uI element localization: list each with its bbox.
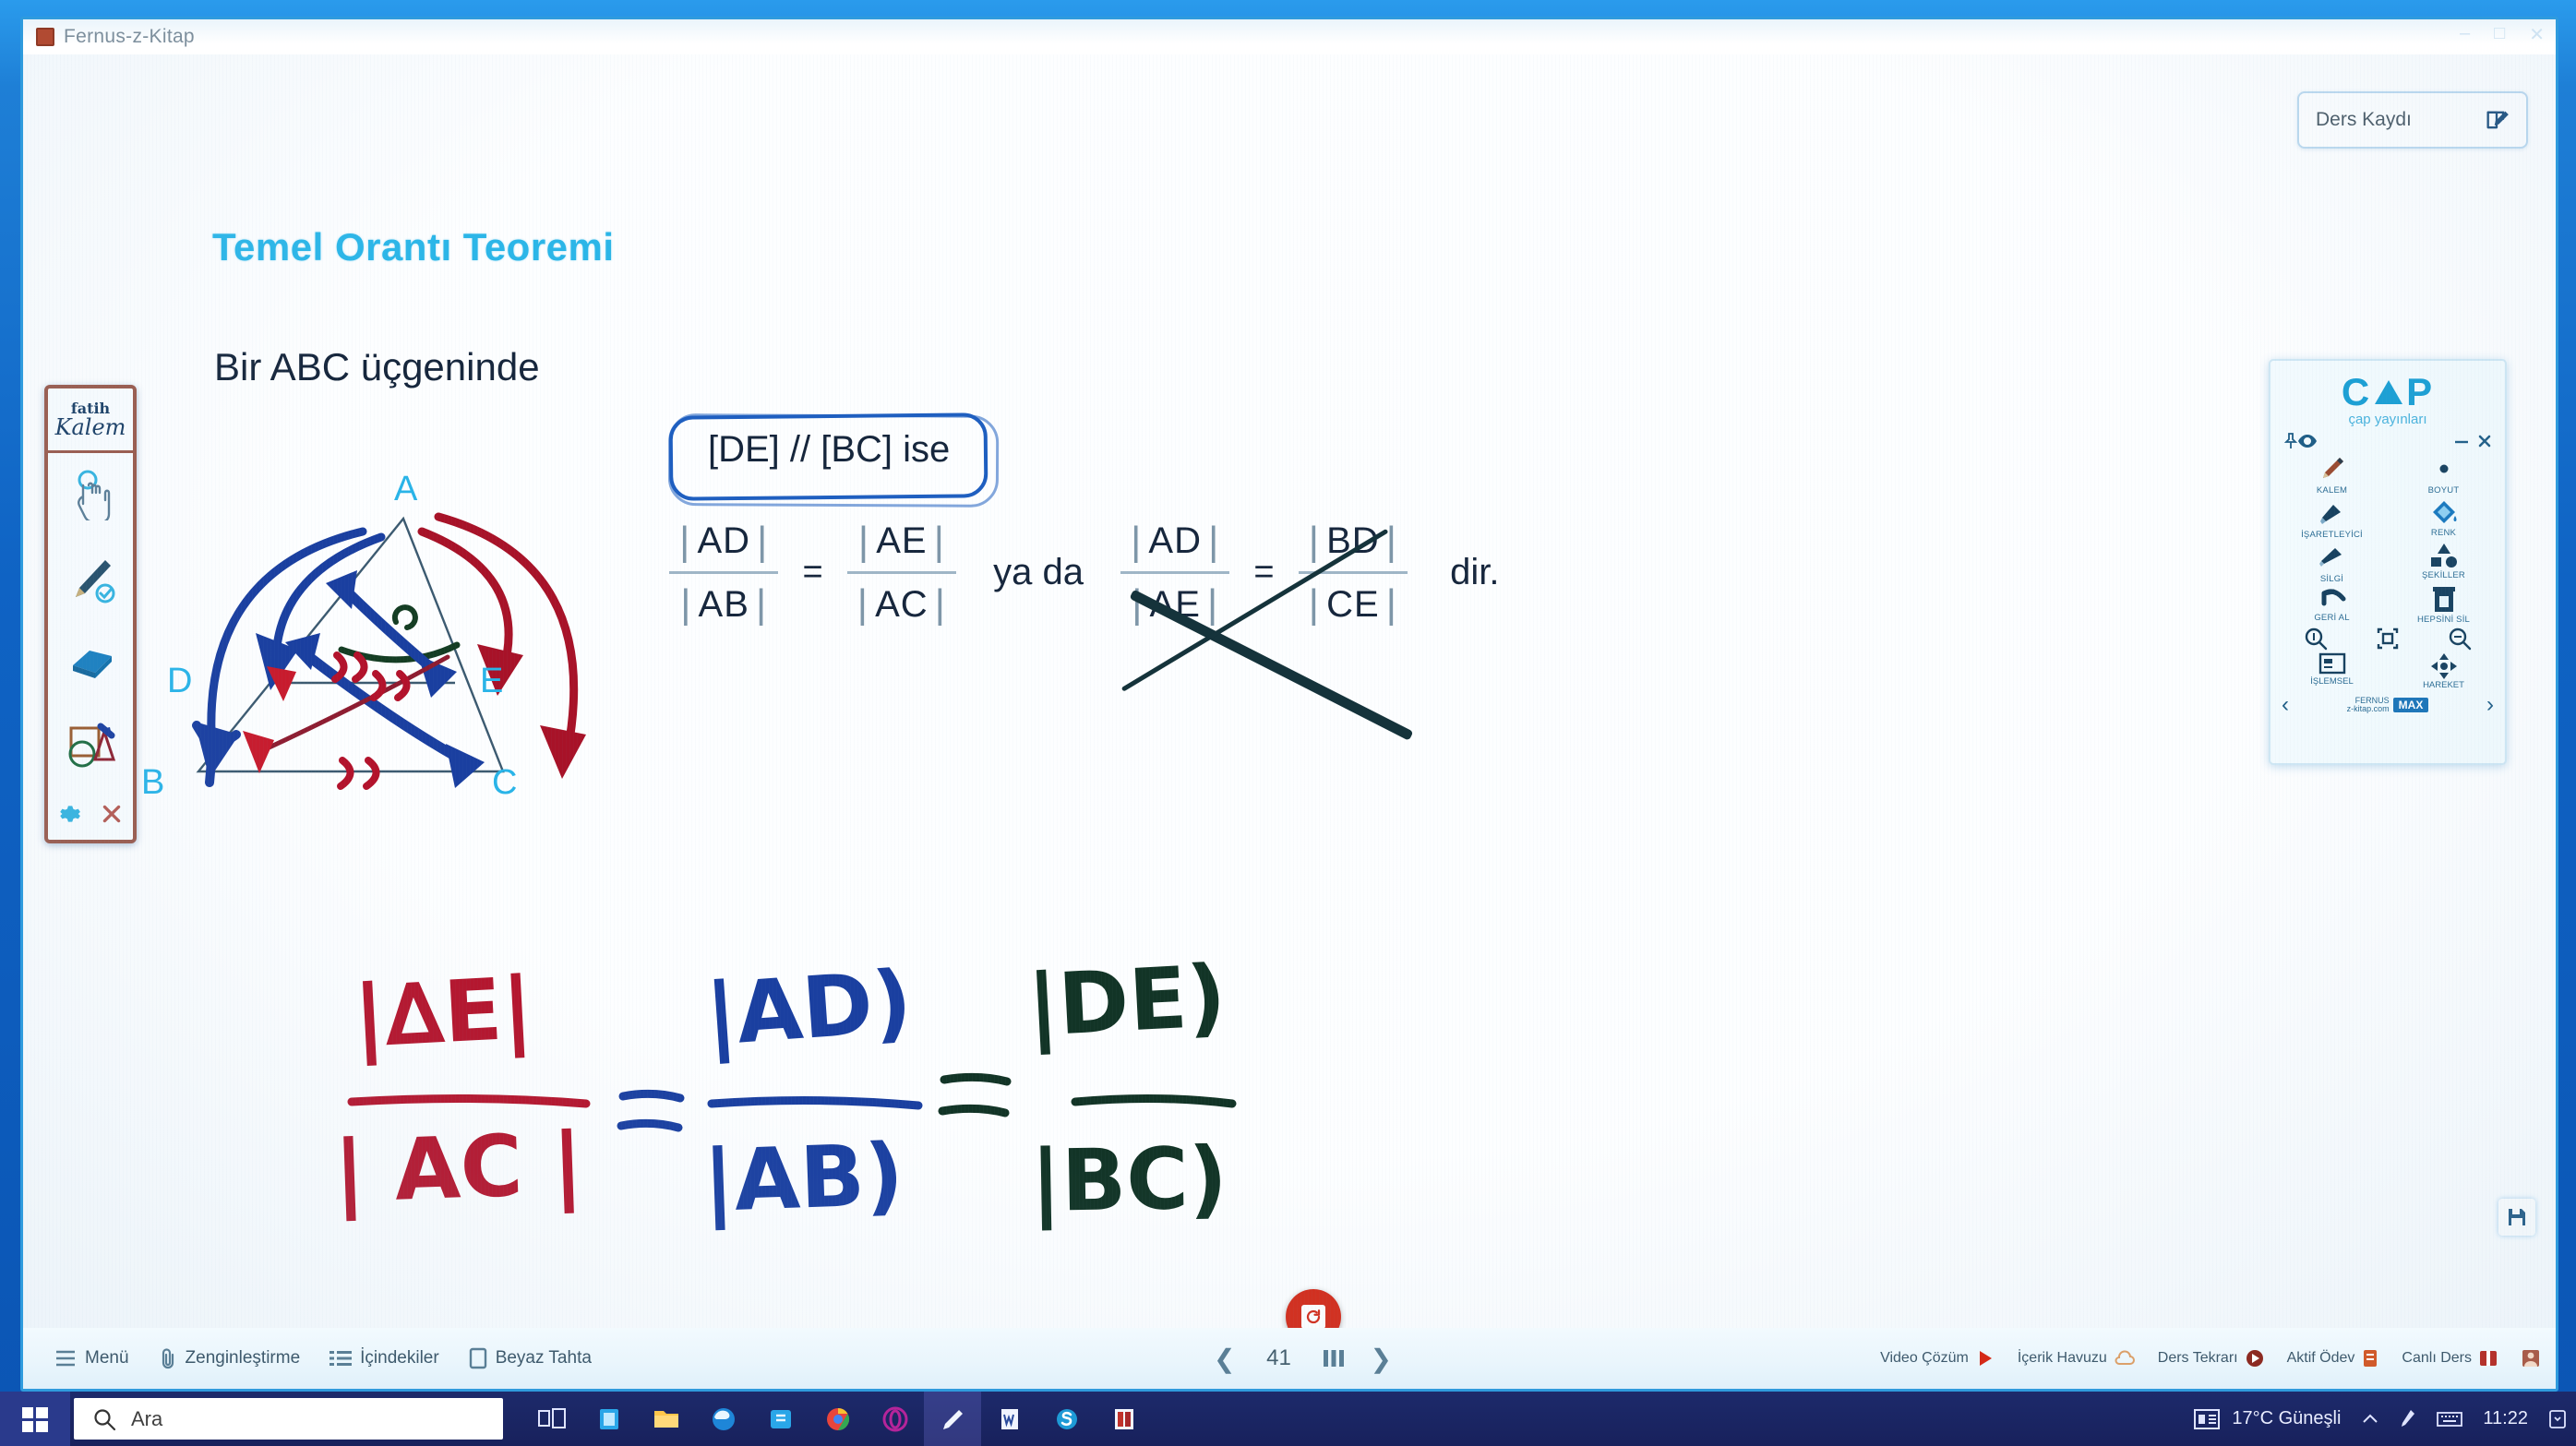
cap-logo-subtitle: çap yayınları	[2270, 412, 2505, 427]
weather-widget[interactable]: 17°C Güneşli	[2193, 1407, 2341, 1431]
close-icon[interactable]	[2477, 434, 2492, 448]
fraction-bar	[1120, 571, 1229, 574]
pencil-icon	[2317, 453, 2348, 484]
appbar-item-menu[interactable]: Menü	[40, 1348, 144, 1368]
abs-bar: |	[750, 519, 774, 564]
minimize-icon[interactable]	[2453, 436, 2470, 446]
windows-taskbar: Ara	[0, 1392, 2576, 1446]
chrome-icon[interactable]	[809, 1392, 867, 1446]
cap-tool-grid[interactable]: KALEM BOYUT	[2270, 451, 2505, 625]
frac-denominator: AC	[875, 584, 929, 626]
list-icon	[329, 1349, 352, 1368]
cap-tool-hepsini-sil[interactable]: HEPSİNİ SİL	[2388, 586, 2499, 625]
handwritten-formula: .hw { font-family: "DejaVu Sans", sans-s…	[346, 945, 1343, 1337]
cap-tool-label: İŞARETLEYİCİ	[2301, 530, 2363, 540]
current-page-number[interactable]: 41	[1259, 1345, 1298, 1371]
shapes-icon	[64, 723, 117, 771]
equation-row: |AD| |AB| = |AE| |AC| ya da	[669, 517, 1499, 629]
condition-text: [DE] // [BC] ise	[708, 429, 950, 471]
formula-block: [DE] // [BC] ise |AD| |AB| = |AE| |AC|	[669, 414, 1499, 629]
trash-icon	[2432, 586, 2456, 614]
homework-icon[interactable]	[2361, 1348, 2379, 1368]
cap-tool-sekiller[interactable]: ŞEKİLLER	[2388, 542, 2499, 584]
svg-text:| AC |: | AC |	[332, 1115, 585, 1222]
appbar-item-label: Zenginleştirme	[186, 1348, 301, 1368]
cap-tool-label: SİLGİ	[2320, 574, 2343, 584]
abs-bar: |	[1302, 581, 1326, 627]
keyboard-icon[interactable]	[2437, 1410, 2462, 1428]
svg-text:|AD): |AD)	[702, 952, 915, 1065]
maximize-icon[interactable]: □	[2494, 23, 2505, 46]
store-icon[interactable]	[581, 1392, 638, 1446]
triangle-vertex-d: D	[167, 662, 192, 701]
prev-page-button[interactable]: ❮	[1214, 1344, 1235, 1374]
appbar-right-group: Video Çözüm İçerik Havuzu Ders Tekrarı	[1869, 1348, 2546, 1368]
fraction-bar	[847, 571, 956, 574]
eraser-icon	[2317, 542, 2348, 573]
windows-start-icon[interactable]	[0, 1392, 70, 1446]
triangle-vertex-b: B	[141, 763, 164, 803]
replay-icon[interactable]	[2245, 1348, 2265, 1368]
abs-bar: |	[928, 519, 952, 564]
ders-kaydi-label: Ders Kaydı	[2316, 109, 2412, 131]
pages-icon[interactable]	[1322, 1346, 1346, 1370]
handwritten-equals-2	[942, 1077, 1007, 1113]
cloud-icon[interactable]	[2114, 1349, 2136, 1368]
cap-tool-renk[interactable]: RENK	[2388, 497, 2499, 540]
cap-window-buttons[interactable]	[2270, 427, 2505, 451]
chevron-right-icon[interactable]: ›	[2486, 692, 2494, 718]
chevron-left-icon[interactable]: ‹	[2282, 692, 2289, 718]
abs-bar: |	[1380, 519, 1404, 564]
search-icon	[92, 1407, 116, 1431]
page-navigator[interactable]: ❮ 41 ❯	[1214, 1344, 1392, 1374]
app-icon	[36, 28, 54, 46]
svg-text:|AB): |AB)	[701, 1125, 905, 1231]
cap-logo-triangle	[2373, 377, 2404, 407]
abs-bar: |	[673, 519, 697, 564]
touch-hand-icon	[67, 469, 114, 520]
handwritten-term-1: |∆E| | AC |	[332, 959, 586, 1222]
cap-tool-kalem[interactable]: KALEM	[2276, 453, 2388, 496]
edge-icon[interactable]	[695, 1392, 752, 1446]
paperclip-icon	[159, 1347, 177, 1369]
search-placeholder-text: Ara	[131, 1407, 162, 1431]
pen-brand-line2: Kalem	[55, 414, 126, 440]
window-titlebar: Fernus-z-Kitap – □ ✕	[23, 19, 2556, 54]
shapes-tool[interactable]	[48, 704, 133, 788]
close-icon[interactable]: ✕	[2529, 23, 2545, 46]
svg-text:|∆E|: |∆E|	[352, 959, 535, 1067]
save-disk-icon	[2506, 1206, 2528, 1228]
reload-icon	[1301, 1305, 1325, 1329]
search-input[interactable]: Ara	[74, 1398, 503, 1440]
appbar-item-label: İçerik Havuzu	[2018, 1350, 2107, 1367]
abs-bar: |	[674, 581, 698, 627]
abs-bar: |	[1380, 581, 1404, 627]
appbar-item-label: Beyaz Tahta	[496, 1348, 592, 1368]
zoom-in-icon[interactable]	[2304, 627, 2328, 651]
appbar-item-icerik-havuzu[interactable]: İçerik Havuzu	[2007, 1349, 2147, 1368]
avatar[interactable]	[2521, 1348, 2541, 1368]
cap-tool-silgi[interactable]: SİLGİ	[2276, 542, 2388, 584]
zoom-out-icon[interactable]	[2448, 627, 2472, 651]
whiteboard-icon	[469, 1347, 487, 1369]
edit-square-icon[interactable]	[2484, 107, 2510, 133]
undo-arrow-icon	[2316, 586, 2349, 612]
cap-brand-text: FERNUS z-kitap.com	[2347, 697, 2390, 714]
appbar-item-label: Aktif Ödev	[2287, 1350, 2355, 1367]
handwritten-term-2: |AD) |AB)	[701, 952, 918, 1231]
appbar-item-label: Canlı Ders	[2402, 1350, 2472, 1367]
cap-zoom-row[interactable]	[2270, 625, 2505, 652]
abs-bar: |	[749, 581, 773, 627]
cap-tool-label: HAREKET	[2423, 680, 2464, 690]
page-subtitle: Bir ABC üçgeninde	[214, 345, 540, 389]
app-window: Fernus-z-Kitap – □ ✕ Ders Kaydı	[20, 17, 2558, 1392]
frac-denominator: CE	[1326, 584, 1380, 626]
ders-kaydi-button[interactable]: Ders Kaydı	[2297, 91, 2528, 149]
handwritten-term-3: |DE) |BC)	[1025, 947, 1232, 1231]
page-title: Temel Orantı Teoremi	[212, 225, 615, 269]
fraction-bar	[669, 571, 778, 574]
app-bottom-bar: Menü Zenginleştirme	[23, 1328, 2556, 1389]
move-icon	[2430, 652, 2458, 680]
pen-app-icon[interactable]	[924, 1392, 981, 1446]
appbar-item-icindekiler[interactable]: İçindekiler	[315, 1348, 454, 1368]
appbar-item-label: Menü	[85, 1348, 129, 1368]
appbar-item-label: Ders Tekrarı	[2158, 1350, 2238, 1367]
appbar-item-profile[interactable]	[2510, 1348, 2546, 1368]
frac-numerator: AD	[697, 520, 750, 562]
triangle-vertex-a: A	[394, 470, 417, 509]
cap-brand-line2: z-kitap.com	[2347, 705, 2390, 713]
touch-hand-tool[interactable]	[48, 453, 133, 537]
cap-tool-label: BOYUT	[2428, 485, 2460, 496]
cap-logo-c: C	[2342, 370, 2371, 414]
abs-bar: |	[1202, 519, 1226, 564]
cap-tool-islemsel[interactable]: İŞLEMSEL	[2276, 652, 2388, 690]
book-page: Ders Kaydı Temel Orantı Teoremi Bir ABC …	[23, 54, 2556, 1328]
eraser-icon	[64, 643, 117, 682]
pin-icon[interactable]	[2283, 433, 2298, 449]
crossed-equation: |AD| |AE| = |BD| |CE|	[1120, 517, 1408, 629]
pen-icon	[65, 553, 116, 604]
appbar-item-video-cozum[interactable]: Video Çözüm	[1869, 1348, 2007, 1368]
cap-tool-label: ŞEKİLLER	[2422, 570, 2465, 580]
fit-screen-icon[interactable]	[2376, 627, 2400, 651]
opera-icon[interactable]	[867, 1392, 924, 1446]
weather-widget-icon	[2193, 1407, 2221, 1431]
cap-tool-label: RENK	[2431, 528, 2456, 538]
fraction-ae-ac: |AE| |AC|	[847, 517, 956, 629]
marker-icon	[2317, 497, 2348, 529]
save-button[interactable]	[2498, 1199, 2535, 1236]
triangle-vertex-e: E	[480, 662, 503, 701]
live-icon[interactable]	[2478, 1348, 2498, 1368]
taskbar-apps[interactable]	[523, 1392, 1153, 1446]
cap-bottom-tools[interactable]: İŞLEMSEL HAREKET	[2270, 652, 2505, 690]
cap-logo-text: C P	[2270, 370, 2505, 414]
desktop-screen: Fernus-z-Kitap – □ ✕ Ders Kaydı	[0, 0, 2576, 1446]
svg-text:|DE): |DE)	[1025, 947, 1228, 1056]
triangle-vertex-c: C	[492, 763, 517, 803]
skype-icon[interactable]	[1038, 1392, 1096, 1446]
cap-logo-p: P	[2406, 370, 2434, 414]
triangle-diagram: A D E B C	[162, 474, 734, 954]
pen-toolbar-footer[interactable]	[48, 788, 133, 840]
abs-bar: |	[929, 581, 953, 627]
dot-size-icon	[2435, 453, 2453, 484]
window-controls[interactable]: – □ ✕	[2460, 23, 2545, 46]
appbar-left-group: Menü Zenginleştirme	[40, 1347, 606, 1369]
pen-tray-icon[interactable]	[2400, 1409, 2416, 1429]
abs-bar: |	[1124, 519, 1148, 564]
cap-tool-geri-al[interactable]: GERİ AL	[2276, 586, 2388, 625]
frac-denominator: AB	[699, 584, 749, 626]
paint-bucket-icon	[2429, 497, 2459, 527]
frac-numerator: AD	[1148, 520, 1202, 562]
abs-bar: |	[852, 519, 876, 564]
cap-tool-boyut[interactable]: BOYUT	[2388, 453, 2499, 496]
eye-icon[interactable]	[2298, 435, 2317, 448]
frac-numerator: AE	[876, 520, 927, 562]
appbar-item-label: Video Çözüm	[1880, 1350, 1969, 1367]
connector-text: ya da	[993, 552, 1084, 593]
equals-sign: =	[802, 553, 822, 592]
eraser-tool[interactable]	[48, 621, 133, 705]
ending-text: dir.	[1450, 552, 1499, 593]
cap-tool-panel[interactable]: C P çap yayınları	[2269, 359, 2507, 765]
appbar-item-aktif-odev[interactable]: Aktif Ödev	[2276, 1348, 2391, 1368]
cap-tool-hareket[interactable]: HAREKET	[2388, 652, 2499, 690]
appbar-item-label: İçindekiler	[360, 1348, 439, 1368]
taskbar-clock[interactable]: 11:22	[2483, 1408, 2528, 1429]
system-tray[interactable]: 17°C Güneşli 11:22	[2193, 1407, 2567, 1431]
appbar-item-canli-ders[interactable]: Canlı Ders	[2390, 1348, 2510, 1368]
notification-icon[interactable]	[2548, 1409, 2567, 1429]
equals-sign: =	[1253, 553, 1274, 592]
shapes-icon	[2428, 542, 2460, 569]
window-title: Fernus-z-Kitap	[64, 26, 195, 48]
cap-tool-label: HEPSİNİ SİL	[2417, 615, 2470, 625]
condition-highlight: [DE] // [BC] ise	[669, 414, 981, 485]
pen-toolbar[interactable]: fatih Kalem	[44, 385, 137, 843]
word-icon[interactable]	[981, 1392, 1038, 1446]
teams-icon[interactable]	[752, 1392, 809, 1446]
cap-tool-label: GERİ AL	[2314, 613, 2349, 623]
abs-bar: |	[851, 581, 875, 627]
play-icon[interactable]	[1975, 1348, 1995, 1368]
handwritten-equals-1	[621, 1093, 680, 1128]
cap-tool-label: İŞLEMSEL	[2310, 676, 2353, 687]
appbar-item-zenginlestirme[interactable]: Zenginleştirme	[144, 1347, 316, 1369]
fraction-ad-ab: |AD| |AB|	[669, 517, 778, 629]
pen-tool[interactable]	[48, 537, 133, 621]
abs-bar: |	[1302, 519, 1326, 564]
file-explorer-icon[interactable]	[638, 1392, 695, 1446]
next-page-button[interactable]: ❯	[1370, 1344, 1391, 1374]
appbar-item-ders-tekrari[interactable]: Ders Tekrarı	[2147, 1348, 2276, 1368]
cap-logo: C P çap yayınları	[2270, 370, 2505, 427]
max-badge: MAX	[2393, 698, 2429, 712]
weather-text: 17°C Güneşli	[2232, 1408, 2341, 1429]
task-view-icon[interactable]	[523, 1392, 581, 1446]
abs-bar: |	[1201, 581, 1225, 627]
screen-icon	[2318, 652, 2346, 676]
minimize-icon[interactable]: –	[2460, 23, 2470, 46]
pen-toolbar-brand: fatih Kalem	[48, 388, 133, 453]
appbar-item-beyaz-tahta[interactable]: Beyaz Tahta	[454, 1347, 606, 1369]
menu-icon	[54, 1349, 77, 1368]
cap-tool-isaretleyici[interactable]: İŞARETLEYİCİ	[2276, 497, 2388, 540]
settings-gear-icon[interactable]	[57, 802, 81, 826]
svg-text:|BC): |BC)	[1030, 1129, 1228, 1231]
books-icon[interactable]	[1096, 1392, 1153, 1446]
chevron-up-icon[interactable]	[2361, 1413, 2379, 1426]
cap-tool-label: KALEM	[2317, 485, 2347, 496]
close-x-icon[interactable]	[100, 802, 124, 826]
cap-panel-footer[interactable]: ‹ FERNUS z-kitap.com MAX ›	[2270, 690, 2505, 723]
